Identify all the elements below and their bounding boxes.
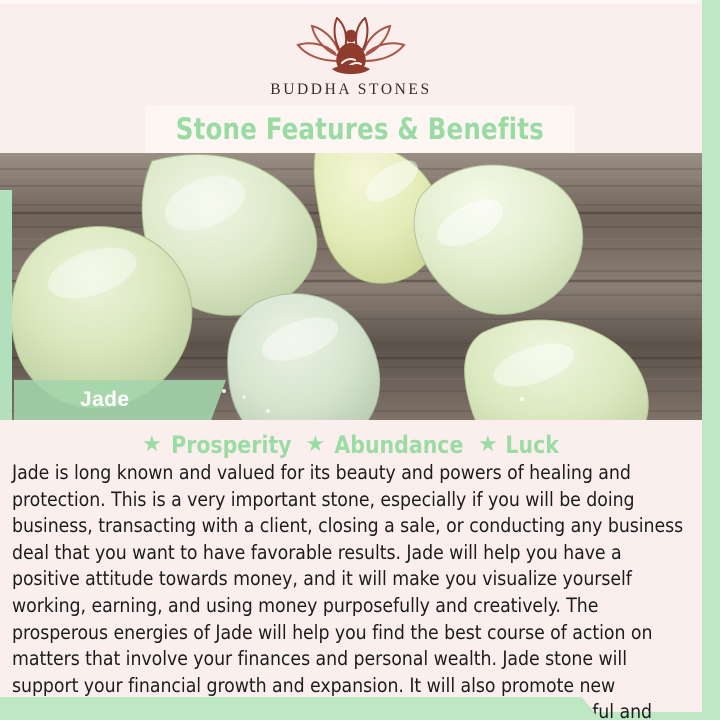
infographic-page: BUDDHA STONES Stone Features & Benefits <box>0 0 720 720</box>
title-banner: Stone Features & Benefits <box>145 105 575 153</box>
stone-description: Jade is long known and valued for its be… <box>12 460 688 720</box>
star-icon: ★ <box>305 433 325 455</box>
benefit-label: Luck <box>505 431 558 459</box>
benefit-label: Abundance <box>335 431 464 459</box>
star-icon: ★ <box>478 433 498 455</box>
hero-photo <box>0 153 702 420</box>
stone-name-label: Jade <box>80 388 129 412</box>
stone-name-band: Jade <box>14 380 226 420</box>
brand-logo: BUDDHA STONES <box>270 17 431 99</box>
jade-stones-photo <box>0 153 702 420</box>
right-green-accent-strip <box>702 0 720 720</box>
benefit-item-luck: ★ Luck <box>478 431 560 459</box>
benefit-item-abundance: ★ Abundance <box>305 431 467 459</box>
benefit-label: Prosperity <box>171 431 291 459</box>
photo-left-green-accent <box>0 190 12 420</box>
brand-name: BUDDHA STONES <box>270 81 431 99</box>
page-title: Stone Features & Benefits <box>176 112 544 146</box>
benefits-row: ★ Prosperity ★ Abundance ★ Luck <box>0 428 702 462</box>
bottom-green-accent-band <box>0 697 600 720</box>
star-icon: ★ <box>142 433 162 455</box>
lotus-meditation-figure-icon <box>292 17 410 79</box>
brand-header: BUDDHA STONES <box>0 0 702 110</box>
benefit-item-prosperity: ★ Prosperity <box>142 431 294 459</box>
